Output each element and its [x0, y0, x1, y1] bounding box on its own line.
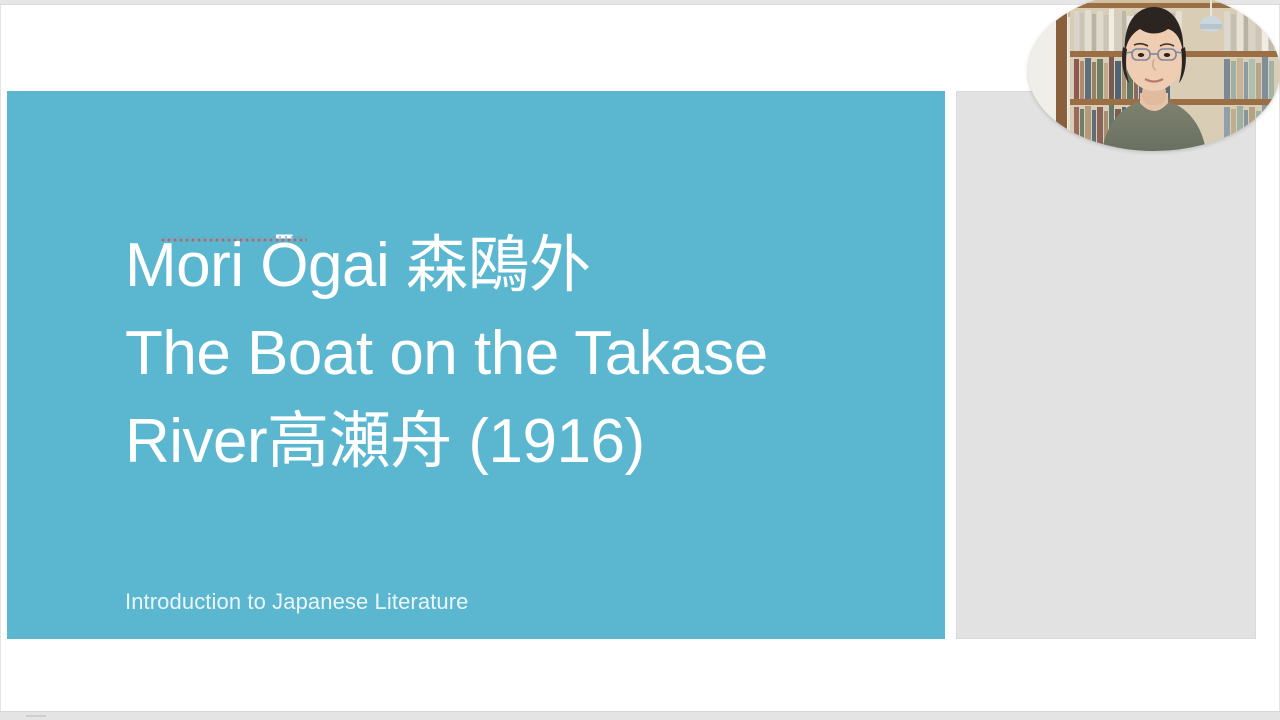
- subtitle-presenter: Prof. Angela Yiu: [125, 625, 885, 672]
- spellcheck-underline-icon: [161, 236, 307, 242]
- title-block: Mori Ōgai 森鴎外 The Boat on the Takase Riv…: [125, 222, 925, 486]
- subtitle-course: Introduction to Japanese Literature: [125, 578, 885, 625]
- side-notes-panel[interactable]: [956, 91, 1256, 639]
- slide-title-panel[interactable]: Mori Ōgai 森鴎外 The Boat on the Takase Riv…: [7, 91, 945, 639]
- window-bottom-chrome: [0, 711, 1280, 720]
- slide-viewer-window: Mori Ōgai 森鴎外 The Boat on the Takase Riv…: [0, 0, 1280, 720]
- page-title: Mori Ōgai 森鴎外 The Boat on the Takase Riv…: [125, 222, 925, 486]
- subtitle-block: Introduction to Japanese Literature Prof…: [125, 578, 885, 672]
